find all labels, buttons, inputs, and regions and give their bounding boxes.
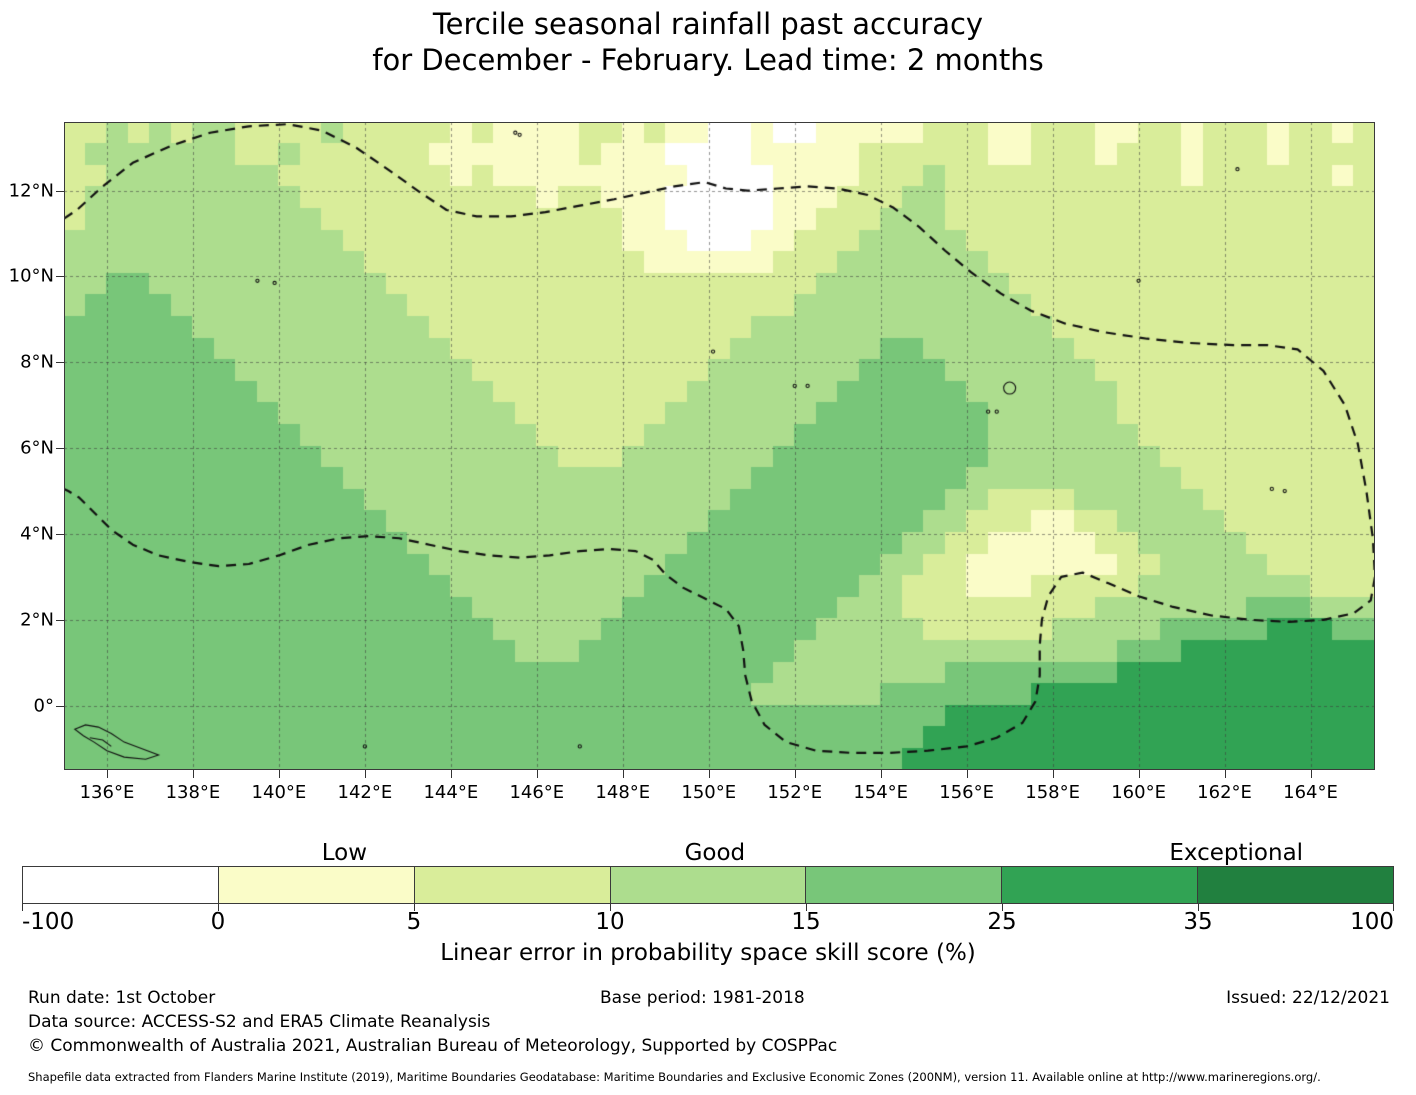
colorbar-panel[interactable]: LowGoodExceptional -1000510152535100 Lin… <box>22 838 1394 966</box>
longitude-tick-label-11: 158°E <box>1025 782 1080 803</box>
longitude-tick-11 <box>1053 770 1054 778</box>
latitude-tick-0 <box>56 191 64 192</box>
colorbar-segment-4[interactable] <box>806 867 1002 903</box>
footer: Run date: 1st October Base period: 1981-… <box>0 988 1416 1060</box>
colorbar-tick-label-2: 5 <box>407 909 422 935</box>
run-date: Run date: 1st October <box>28 988 215 1008</box>
longitude-tick-label-14: 164°E <box>1283 782 1338 803</box>
title-line-1: Tercile seasonal rainfall past accuracy <box>0 6 1416 42</box>
longitude-tick-7 <box>709 770 710 778</box>
longitude-tick-label-0: 136°E <box>80 782 135 803</box>
colorbar-tick-labels: -1000510152535100 <box>22 904 1394 934</box>
longitude-tick-label-4: 144°E <box>423 782 478 803</box>
longitude-tick-label-12: 160°E <box>1111 782 1166 803</box>
latitude-tick-label-2: 8°N <box>20 352 54 373</box>
latitude-tick-label-0: 12°N <box>9 180 54 201</box>
footer-row-3: © Commonwealth of Australia 2021, Austra… <box>0 1036 1416 1060</box>
latitude-tick-5 <box>56 620 64 621</box>
footer-row-2: Data source: ACCESS-S2 and ERA5 Climate … <box>0 1012 1416 1036</box>
longitude-tick-6 <box>623 770 624 778</box>
colorbar-category-good: Good <box>685 840 746 866</box>
longitude-tick-label-6: 148°E <box>595 782 650 803</box>
colorbar-title: Linear error in probability space skill … <box>22 940 1394 966</box>
longitude-tick-9 <box>881 770 882 778</box>
colorbar-tick-label-1: 0 <box>211 909 226 935</box>
colorbar-tick-label-7: 100 <box>1350 909 1394 935</box>
longitude-tick-label-9: 154°E <box>853 782 908 803</box>
skill-score-heatmap[interactable] <box>64 122 1375 770</box>
latitude-tick-4 <box>56 534 64 535</box>
latitude-tick-label-4: 4°N <box>20 523 54 544</box>
footer-row-1: Run date: 1st October Base period: 1981-… <box>0 988 1416 1012</box>
longitude-tick-5 <box>537 770 538 778</box>
colorbar-segment-6[interactable] <box>1198 867 1393 903</box>
longitude-tick-8 <box>795 770 796 778</box>
colorbar-tick-label-3: 10 <box>595 909 624 935</box>
latitude-tick-label-1: 10°N <box>9 266 54 287</box>
longitude-tick-2 <box>279 770 280 778</box>
longitude-tick-4 <box>451 770 452 778</box>
copyright-notice: © Commonwealth of Australia 2021, Austra… <box>28 1036 837 1056</box>
longitude-tick-label-3: 142°E <box>338 782 393 803</box>
colorbar-segment-3[interactable] <box>611 867 807 903</box>
shapefile-attribution: Shapefile data extracted from Flanders M… <box>28 1070 1321 1084</box>
colorbar-category-exceptional: Exceptional <box>1169 840 1303 866</box>
longitude-tick-label-10: 156°E <box>939 782 994 803</box>
page-title: Tercile seasonal rainfall past accuracy … <box>0 6 1416 78</box>
colorbar-tick-label-4: 15 <box>791 909 820 935</box>
latitude-tick-2 <box>56 362 64 363</box>
longitude-tick-0 <box>107 770 108 778</box>
longitude-tick-12 <box>1139 770 1140 778</box>
colorbar-tick-label-6: 35 <box>1183 909 1212 935</box>
colorbar-segment-5[interactable] <box>1002 867 1198 903</box>
colorbar-segment-0[interactable] <box>23 867 219 903</box>
colorbar-tick-label-5: 25 <box>987 909 1016 935</box>
title-line-2: for December - February. Lead time: 2 mo… <box>0 42 1416 78</box>
longitude-tick-14 <box>1311 770 1312 778</box>
longitude-tick-label-8: 152°E <box>767 782 822 803</box>
latitude-tick-1 <box>56 276 64 277</box>
latitude-tick-label-3: 6°N <box>20 438 54 459</box>
longitude-tick-3 <box>365 770 366 778</box>
longitude-tick-1 <box>193 770 194 778</box>
longitude-tick-label-13: 162°E <box>1197 782 1252 803</box>
colorbar-category-labels: LowGoodExceptional <box>22 838 1394 866</box>
longitude-tick-10 <box>967 770 968 778</box>
base-period: Base period: 1981-2018 <box>600 988 805 1008</box>
map-panel[interactable] <box>64 122 1375 770</box>
latitude-tick-label-5: 2°N <box>20 609 54 630</box>
colorbar-category-low: Low <box>322 840 367 866</box>
latitude-tick-6 <box>56 706 64 707</box>
colorbar-tick-label-0: -100 <box>22 909 74 935</box>
longitude-tick-13 <box>1225 770 1226 778</box>
longitude-tick-label-7: 150°E <box>681 782 736 803</box>
data-source: Data source: ACCESS-S2 and ERA5 Climate … <box>28 1012 490 1032</box>
longitude-tick-label-5: 146°E <box>509 782 564 803</box>
latitude-tick-label-6: 0° <box>34 695 54 716</box>
colorbar-segment-2[interactable] <box>415 867 611 903</box>
colorbar-segment-1[interactable] <box>219 867 415 903</box>
longitude-tick-label-1: 138°E <box>166 782 221 803</box>
issued-date: Issued: 22/12/2021 <box>1226 988 1390 1008</box>
colorbar-gradient[interactable] <box>22 866 1394 904</box>
latitude-tick-3 <box>56 448 64 449</box>
longitude-tick-label-2: 140°E <box>252 782 307 803</box>
